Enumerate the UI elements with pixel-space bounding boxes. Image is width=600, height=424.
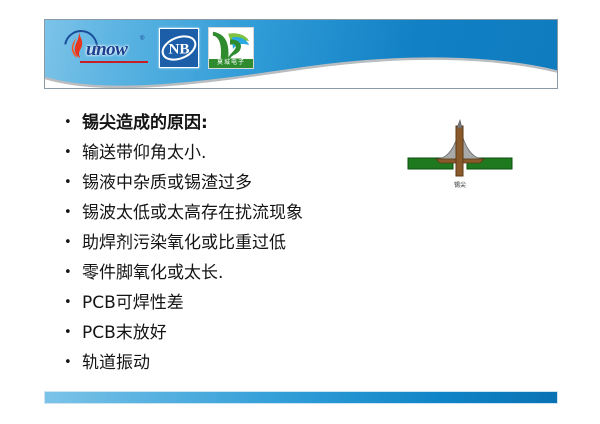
unow-underline [80, 61, 148, 63]
bullet-item: • PCB可焊性差 [64, 288, 394, 318]
bullet-text: 轨道振动 [82, 348, 150, 378]
bullet-dot-icon: • [64, 318, 82, 348]
bullet-item: • 助焊剂污染氧化或比重过低 [64, 228, 394, 258]
bullet-item: • 零件脚氧化或太长. [64, 258, 394, 288]
bullet-dot-icon: • [64, 198, 82, 228]
bullet-text: 锡波太低或太高存在扰流现象 [82, 198, 303, 228]
bullet-item: • PCB末放好 [64, 318, 394, 348]
unow-registered-mark: ® [140, 36, 144, 42]
bullet-item: • 输送带仰角太小. [64, 138, 394, 168]
solder-spike-diagram: 锡尖 [400, 118, 520, 198]
diagram-caption: 锡尖 [400, 180, 520, 189]
bullet-dot-icon: • [64, 168, 82, 198]
bullet-dot-icon: • [64, 108, 82, 138]
bullet-text: PCB可焊性差 [82, 288, 184, 318]
bullet-item: • 轨道振动 [64, 348, 394, 378]
bullet-item: • 锡液中杂质或锡渣过多 [64, 168, 394, 198]
bullet-item: • 锡尖造成的原因: [64, 108, 394, 138]
unow-logo: unow ® [64, 28, 150, 68]
svg-text:NB: NB [168, 41, 189, 58]
bullet-dot-icon: • [64, 348, 82, 378]
bullet-text: 锡尖造成的原因: [82, 108, 208, 138]
slide: unow ® NB [0, 0, 600, 424]
logo-row: unow ® NB [64, 27, 254, 69]
bullet-dot-icon: • [64, 138, 82, 168]
bullet-dot-icon: • [64, 288, 82, 318]
unow-wordmark: unow [86, 39, 127, 61]
bullet-dot-icon: • [64, 258, 82, 288]
flame-icon [71, 32, 86, 58]
green-electronics-logo: 莫城电子 [208, 27, 254, 69]
bullet-text: 助焊剂污染氧化或比重过低 [82, 228, 286, 258]
green-logo-subtext: 莫城电子 [209, 59, 253, 67]
bullet-item: • 锡波太低或太高存在扰流现象 [64, 198, 394, 228]
bullet-dot-icon: • [64, 228, 82, 258]
slide-header: unow ® NB [44, 19, 558, 89]
nb-monogram-icon: NB [160, 29, 198, 67]
slide-footer-bar [44, 391, 558, 404]
nb-monogram-logo: NB [159, 28, 199, 68]
bullet-text: 锡液中杂质或锡渣过多 [82, 168, 252, 198]
bullet-text: PCB末放好 [82, 318, 167, 348]
solder-spike-illustration-icon [400, 118, 520, 188]
bullet-text: 零件脚氧化或太长. [82, 258, 223, 288]
bullet-list: • 锡尖造成的原因: • 输送带仰角太小. • 锡液中杂质或锡渣过多 • 锡波太… [64, 108, 394, 378]
bullet-text: 输送带仰角太小. [82, 138, 206, 168]
